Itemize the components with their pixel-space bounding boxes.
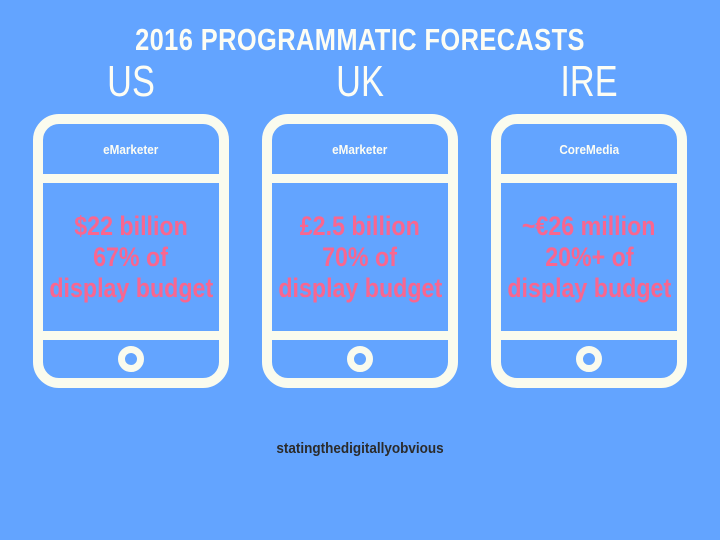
phone-card-us: eMarketer $22 billion 67% of display bud…: [33, 114, 229, 388]
stat-share-uk: 70% of: [323, 242, 398, 273]
source-area-us: eMarketer: [43, 124, 219, 174]
home-area-ire: [501, 340, 677, 378]
stat-metric-us: display budget: [49, 273, 213, 304]
home-area-uk: [272, 340, 448, 378]
stat-metric-ire: display budget: [507, 273, 671, 304]
screen-divider-top-us: [43, 174, 219, 183]
footer-credit: statingthedigitallyobvious: [36, 440, 684, 457]
screen-divider-top-uk: [272, 174, 448, 183]
phone-screen-us: $22 billion 67% of display budget: [43, 183, 219, 331]
country-heading-ire: IRE: [513, 58, 666, 106]
source-area-ire: CoreMedia: [501, 124, 677, 174]
screen-divider-bottom-ire: [501, 331, 677, 340]
country-heading-row: US UK IRE: [0, 58, 720, 108]
stat-share-ire: 20%+ of: [545, 242, 633, 273]
source-area-uk: eMarketer: [272, 124, 448, 174]
phone-body-us: eMarketer $22 billion 67% of display bud…: [43, 124, 219, 378]
source-label-uk: eMarketer: [332, 142, 387, 157]
screen-divider-bottom-us: [43, 331, 219, 340]
home-button-ring-icon[interactable]: [347, 346, 373, 372]
home-button-ring-icon[interactable]: [118, 346, 144, 372]
stat-amount-us: $22 billion: [74, 211, 188, 242]
page-title: 2016 PROGRAMMATIC FORECASTS: [65, 23, 655, 57]
phone-mockup-group: eMarketer $22 billion 67% of display bud…: [0, 114, 720, 389]
home-area-us: [43, 340, 219, 378]
screen-divider-top-ire: [501, 174, 677, 183]
phone-screen-ire: ~€26 million 20%+ of display budget: [501, 183, 677, 331]
source-label-us: eMarketer: [103, 142, 158, 157]
phone-card-ire: CoreMedia ~€26 million 20%+ of display b…: [491, 114, 687, 388]
phone-body-ire: CoreMedia ~€26 million 20%+ of display b…: [501, 124, 677, 378]
country-heading-us: US: [55, 58, 208, 106]
stat-amount-uk: £2.5 billion: [300, 211, 420, 242]
stat-metric-uk: display budget: [278, 273, 442, 304]
phone-screen-uk: £2.5 billion 70% of display budget: [272, 183, 448, 331]
screen-divider-bottom-uk: [272, 331, 448, 340]
stat-share-us: 67% of: [94, 242, 169, 273]
country-heading-uk: UK: [284, 58, 437, 106]
phone-card-uk: eMarketer £2.5 billion 70% of display bu…: [262, 114, 458, 388]
home-button-ring-icon[interactable]: [576, 346, 602, 372]
source-label-ire: CoreMedia: [559, 142, 619, 157]
phone-body-uk: eMarketer £2.5 billion 70% of display bu…: [272, 124, 448, 378]
stat-amount-ire: ~€26 million: [522, 211, 656, 242]
infographic-canvas: 2016 PROGRAMMATIC FORECASTS US UK IRE eM…: [0, 0, 720, 540]
